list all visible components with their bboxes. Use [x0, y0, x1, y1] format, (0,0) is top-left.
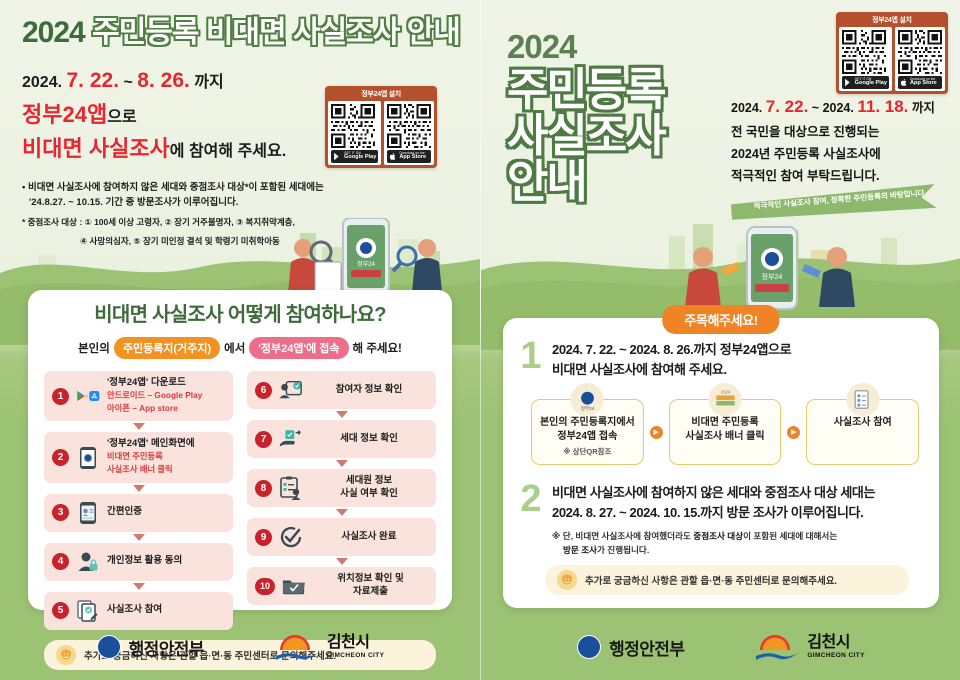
list-item[interactable]: 9 사실조사 완료 — [247, 518, 436, 556]
step-text: 참여자 정보 확인 — [310, 384, 428, 397]
arrow-down-icon — [336, 460, 348, 467]
flow1-line2: 정부24앱 접속 — [557, 431, 617, 442]
step-text: 위치정보 확인 및 자료제출 — [313, 573, 428, 599]
list-item[interactable]: 1 '정부24앱' 다운로드 — [44, 371, 233, 421]
step1-date-range: 2024. 7. 22. ~ 2024. 8. 26. — [552, 342, 693, 357]
steps-columns: 1 '정부24앱' 다운로드 — [44, 371, 436, 630]
flow-card-3-text: 사실조사 참여 — [811, 416, 914, 430]
flow-card-1-note: ※ 상단QR참조 — [536, 446, 639, 457]
right-step-1-number: 1 — [519, 340, 543, 379]
hand-check-icon — [279, 427, 303, 451]
step-title: '정부24앱' 메인화면에 — [107, 438, 195, 449]
step-text: '정부24앱' 메인화면에 비대면 주민등록 사실조사 배너 클릭 — [107, 438, 225, 476]
left-footer: 행정안전부 김천시 GIMCHEON CITY — [0, 614, 480, 680]
step-number: 2 — [52, 449, 69, 466]
app-store-big: App Store — [399, 155, 426, 161]
arrow-down-icon — [133, 534, 145, 541]
flow2-line1: 비대면 주민등록 — [691, 417, 758, 428]
left-card-subtitle: 본인의 주민등록지(거주지) 에서 '정부24앱'에 접속 해 주세요! — [44, 337, 436, 359]
app-store-big: App Store — [910, 81, 937, 87]
step-sub1: 비대면 주민등록 — [107, 451, 163, 461]
note-bullet-1b: '24.8.27. ~ 10.15. 기간 중 방문조사가 이루어집니다. — [22, 195, 458, 210]
note-c: 이 포함된 세대에 대해서는 — [743, 531, 837, 541]
app-store-button[interactable]: Download on the App Store — [387, 150, 431, 163]
survey-badge-icon: 2024 — [709, 383, 742, 416]
qr-code-google-icon — [842, 30, 886, 74]
rlead-date-end: 11. 18. — [857, 97, 908, 116]
step-number: 1 — [52, 388, 69, 405]
pill-gov24-access: '정부24앱'에 접속 — [249, 337, 348, 359]
right-panel: 정부24 2024 주민등록 사실조사 안내 2024. 7. 22. — [480, 0, 960, 680]
right-step-2-line1: 비대면 사실조사에 참여하지 않은 세대와 중점조사 대상 세대는 — [552, 483, 923, 503]
step-number: 8 — [255, 480, 272, 497]
qr-code-apple-icon — [898, 30, 942, 74]
chevron-right-icon: ▶ — [787, 426, 800, 439]
flow-card-1-text: 본인의 주민등록지에서 정부24앱 접속 — [536, 416, 639, 444]
help-pre: 추가로 궁금하신 사항은 관할 — [585, 576, 698, 587]
step-text: '정부24앱' 다운로드 안드로이드 – Google Play 아이폰 – A… — [107, 377, 225, 415]
note-b: 중점조사 대상 — [693, 531, 743, 541]
document-list-icon — [846, 383, 879, 416]
app-store-button[interactable]: Download on the App Store — [898, 76, 942, 89]
google-play-button[interactable]: GET IT ON Google Play — [331, 150, 378, 163]
phone-gov24-icon — [76, 446, 100, 470]
flow2-line2: 사실조사 배너 클릭 — [685, 431, 764, 442]
step-number: 9 — [255, 529, 272, 546]
arrow-down-icon — [133, 423, 145, 430]
city-logo: 김천시 GIMCHEON CITY — [274, 633, 385, 661]
folder-check-icon — [282, 574, 306, 598]
city-logo: 김천시 GIMCHEON CITY — [754, 633, 865, 661]
list-item[interactable]: 4 개인정보 활용 동의 — [44, 543, 233, 581]
rlead-mid: ~ 2024. — [812, 101, 854, 115]
clipboard-person-icon — [279, 476, 303, 500]
sub-mid: 에서 — [224, 340, 245, 356]
qr-app-store[interactable]: Download on the App Store — [384, 101, 434, 165]
note-a: ※ 단, 비대면 사실조사에 참여했더라도 — [552, 531, 693, 541]
poster-root: 정부24 2024 주민등록 비대면 사실조사 안내 2024. — [0, 0, 960, 680]
flow1-line1: 본인의 주민등록지에서 — [540, 417, 635, 428]
ministry-name: 행정안전부 — [609, 635, 684, 660]
list-item[interactable]: 10 위치정보 확인 및 자료제출 — [247, 567, 436, 605]
lead-tilde: ~ — [124, 74, 133, 91]
apple-icon — [389, 152, 397, 161]
left-title-highlight: 주민등록 비대면 사실조사 안내 — [92, 16, 460, 49]
qr-row: GET IT ON Google Play — [328, 101, 434, 165]
right-help-bar: 추가로 궁금하신 사항은 관할 읍·면·동 주민센터로 문의해주세요. — [545, 565, 909, 595]
ministry-logo: 행정안전부 — [576, 634, 684, 660]
google-play-icon — [333, 152, 342, 161]
flow-connector-2: ▶ — [786, 399, 801, 465]
list-item[interactable]: 3 — [44, 494, 233, 532]
right-step-2-note: ※ 단, 비대면 사실조사에 참여했더라도 중점조사 대상이 포함된 세대에 대… — [552, 529, 923, 557]
city-name-ko: 김천시 — [327, 635, 385, 651]
left-title: 2024 주민등록 비대면 사실조사 안내 — [22, 16, 458, 49]
right-step-2-number: 2 — [519, 483, 543, 557]
sub-post: 해 주세요! — [353, 340, 402, 356]
step-title: 간편인증 — [107, 506, 142, 517]
step-title: 참여자 정보 확인 — [336, 384, 402, 395]
step-text: 간편인증 — [107, 506, 225, 519]
flow-connector-1: ▶ — [649, 399, 664, 465]
lead-date-end: 8. 26. — [137, 69, 190, 92]
steps-column-right: 6 참여자 정보 확인 — [247, 371, 436, 630]
step-number: 3 — [52, 504, 69, 521]
person-card-check-icon — [279, 378, 303, 402]
left-info-card: 비대면 사실조사 어떻게 참여하나요? 본인의 주민등록지(거주지) 에서 '정… — [28, 290, 452, 610]
gov24-emblem-icon: 정부24 — [571, 383, 604, 416]
step-sub2: 사실조사 배너 클릭 — [107, 464, 173, 474]
step-title: 위치정보 확인 및 — [337, 573, 403, 584]
step-title: '정부24앱' 다운로드 — [107, 377, 186, 388]
step-text: 사실조사 완료 — [310, 531, 428, 544]
arrow-down-icon — [336, 411, 348, 418]
note-bullet-1: • 비대면 사실조사에 참여하지 않은 세대와 중점조사 대상*이 포함된 세대… — [22, 180, 458, 195]
qr-google-play[interactable]: GET IT ON Google Play — [328, 101, 381, 165]
left-card-question: 비대면 사실조사 어떻게 참여하나요? — [44, 304, 436, 327]
list-item[interactable]: 2 '정부24앱' 메인화면에 비대 — [44, 432, 233, 482]
note-d: 방문 조사 — [563, 545, 597, 555]
lead-pre: 2024. — [22, 74, 62, 91]
note-bullet-2: * 중점조사 대상 : ① 100세 이상 고령자, ② 장기 거주불명자, ③… — [22, 215, 458, 229]
lead-post: 까지 — [194, 74, 223, 91]
taegeuk-icon — [576, 634, 602, 660]
lead-date-start: 7. 22. — [67, 69, 120, 92]
rlead-post: 까지 — [912, 101, 935, 115]
flow3-line1: 사실조사 참여 — [834, 417, 892, 428]
lead-survey-post: 에 참여해 주세요. — [170, 143, 286, 160]
right-lead-line2: 전 국민을 대상으로 진행되는 — [731, 122, 951, 144]
qr-badge-right[interactable]: 정부24앱 설치 — [836, 12, 948, 94]
step-number: 7 — [255, 431, 272, 448]
ministry-logo: 행정안전부 — [96, 634, 204, 660]
lead-app-name: 정부24앱 — [22, 102, 107, 127]
google-play-big: Google Play — [855, 81, 887, 87]
step1-via: 으로 — [768, 342, 791, 357]
svg-text:정부24: 정부24 — [357, 261, 375, 268]
arrow-down-icon — [336, 558, 348, 565]
flow-card-2-text: 비대면 주민등록 사실조사 배너 클릭 — [674, 416, 777, 444]
sub-pre: 본인의 — [78, 340, 110, 356]
right-step-1-line2: 비대면 사실조사에 참여해 주세요. — [552, 360, 923, 380]
taegeuk-icon — [96, 634, 122, 660]
right-step-1: 1 2024. 7. 22. ~ 2024. 8. 26.까지 정부24앱으로 … — [519, 340, 923, 379]
google-play-icon — [844, 78, 853, 87]
step-title: 세대원 정보 — [346, 475, 392, 486]
steps-column-left: 1 '정부24앱' 다운로드 — [44, 371, 233, 630]
step-text: 개인정보 활용 동의 — [107, 555, 225, 568]
gimcheon-emblem-icon — [274, 633, 320, 661]
check-circle-icon — [279, 525, 303, 549]
right-step-2: 2 비대면 사실조사에 참여하지 않은 세대와 중점조사 대상 세대는 2024… — [519, 483, 923, 557]
flow-card-2[interactable]: 2024 비대면 주민등록 사실조사 배너 클릭 — [669, 399, 782, 465]
step-title: 사실조사 완료 — [341, 531, 396, 542]
google-play-button[interactable]: GET IT ON Google Play — [842, 76, 889, 89]
arrow-down-icon — [133, 583, 145, 590]
qr-app-store[interactable]: Download on the App Store — [895, 27, 945, 91]
right-lead-line4: 적극적인 참여 부탁드립니다. — [731, 166, 951, 188]
arrow-down-icon — [133, 485, 145, 492]
left-title-year: 2024 — [22, 16, 85, 49]
customer-service-icon — [557, 570, 577, 590]
qr-caption: 정부24앱 설치 — [839, 14, 945, 27]
rlead-date-start: 7. 22. — [766, 97, 809, 116]
help-post: 로 문의해주세요. — [771, 576, 837, 587]
person-lock-icon — [76, 550, 100, 574]
right-step-2-line2: 2024. 8. 27. ~ 2024. 10. 15.까지 방문 조사가 이루… — [552, 503, 923, 523]
app-stores-icon — [76, 384, 100, 408]
svg-text:정부24: 정부24 — [762, 272, 783, 281]
right-lead: 2024. 7. 22. ~ 2024. 11. 18. 까지 전 국민을 대상… — [731, 92, 951, 187]
left-notes: • 비대면 사실조사에 참여하지 않은 세대와 중점조사 대상*이 포함된 세대… — [22, 180, 458, 248]
arrow-down-icon — [336, 509, 348, 516]
right-step-1-line1: 2024. 7. 22. ~ 2024. 8. 26.까지 정부24앱으로 — [552, 340, 923, 360]
flow-card-1[interactable]: 정부24 본인의 주민등록지에서 정부24앱 접속 ※ 상단QR참조 — [531, 399, 644, 465]
step-sub1: 안드로이드 – Google Play — [107, 390, 202, 400]
lead-survey-name: 비대면 사실조사 — [22, 136, 170, 161]
ministry-name: 행정안전부 — [129, 635, 204, 660]
qr-caption: 정부24앱 설치 — [328, 88, 434, 101]
step-title: 세대 정보 확인 — [340, 433, 398, 444]
step-sub1: 사실 여부 확인 — [340, 488, 398, 499]
step-sub1: 자료제출 — [353, 586, 388, 597]
rlead-pre: 2024. — [731, 101, 762, 115]
qr-code-apple-icon — [387, 104, 431, 148]
qr-row: GET IT ON Google Play — [839, 27, 945, 91]
right-footer: 행정안전부 김천시 GIMCHEON CITY — [481, 614, 960, 680]
note-e: 가 진행됩니다. — [597, 545, 649, 555]
pill-residence: 주민등록지(거주지) — [114, 337, 220, 359]
qr-code-google-icon — [331, 104, 375, 148]
city-name-ko: 김천시 — [807, 635, 865, 651]
step1-survey: 비대면 사실조사 — [552, 362, 636, 377]
step-title: 개인정보 활용 동의 — [107, 555, 182, 566]
note-bullet-2b: ④ 사망의심자, ⑤ 장기 미인정 결석 및 학령기 미취학아동 — [22, 234, 458, 248]
city-name-block: 김천시 GIMCHEON CITY — [327, 635, 385, 660]
step-number: 10 — [255, 578, 275, 595]
svg-text:정부24: 정부24 — [581, 405, 595, 411]
qr-google-play[interactable]: GET IT ON Google Play — [839, 27, 892, 91]
step-text: 세대 정보 확인 — [310, 433, 428, 446]
right-lead-line1: 2024. 7. 22. ~ 2024. 11. 18. 까지 — [731, 92, 951, 122]
svg-text:2024: 2024 — [720, 389, 730, 394]
gimcheon-emblem-icon — [754, 633, 800, 661]
step1-until: 까지 — [693, 342, 719, 357]
step-number: 4 — [52, 553, 69, 570]
right-lead-line3: 2024년 주민등록 사실조사에 — [731, 144, 951, 166]
google-play-big: Google Play — [344, 155, 376, 161]
chevron-right-icon: ▶ — [650, 426, 663, 439]
city-name-block: 김천시 GIMCHEON CITY — [807, 635, 865, 660]
left-panel: 정부24 2024 주민등록 비대면 사실조사 안내 2024. — [0, 0, 480, 680]
list-item[interactable]: 7 세대 정보 확인 — [247, 420, 436, 458]
apple-icon — [900, 78, 908, 87]
step-sub2: 아이폰 – App store — [107, 403, 178, 413]
lead-app-post: 으로 — [107, 109, 136, 126]
step-number: 6 — [255, 382, 272, 399]
step-text: 세대원 정보 사실 여부 확인 — [310, 475, 428, 501]
step1-app: 정부24앱 — [720, 342, 768, 357]
help-center-name: 읍·면·동 주민센터 — [700, 576, 770, 587]
attention-badge: 주목해주세요! — [662, 305, 779, 334]
flow-diagram: 정부24 본인의 주민등록지에서 정부24앱 접속 ※ 상단QR참조 ▶ 202… — [519, 399, 923, 465]
city-name-en: GIMCHEON CITY — [807, 653, 865, 660]
step1-participate: 에 참여해 주세요. — [636, 362, 727, 377]
city-name-en: GIMCHEON CITY — [327, 653, 385, 660]
list-item[interactable]: 6 참여자 정보 확인 — [247, 371, 436, 409]
flow-card-3[interactable]: 사실조사 참여 — [806, 399, 919, 465]
qr-badge-left[interactable]: 정부24앱 설치 — [325, 86, 437, 168]
list-item[interactable]: 8 — [247, 469, 436, 507]
phone-id-icon — [76, 501, 100, 525]
right-info-card: 주목해주세요! 1 2024. 7. 22. ~ 2024. 8. 26.까지 … — [503, 318, 939, 608]
right-help-text: 추가로 궁금하신 사항은 관할 읍·면·동 주민센터로 문의해주세요. — [585, 573, 837, 587]
